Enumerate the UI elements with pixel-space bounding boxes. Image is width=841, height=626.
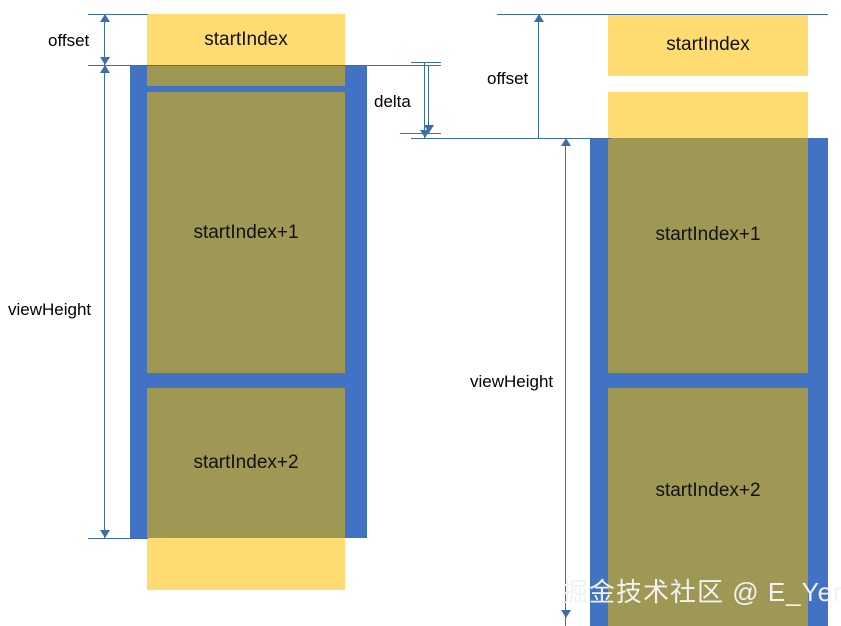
left-offset-tick-bottom — [88, 65, 388, 66]
left-offset-arrowhead-up — [100, 14, 110, 22]
right-label-startindex2: startIndex+2 — [608, 388, 808, 593]
left-divider-0 — [147, 86, 345, 92]
right-offset-tick-top — [497, 14, 828, 15]
right-label-startindex: startIndex — [608, 14, 808, 76]
left-viewheight-arrowhead-up — [100, 65, 110, 73]
left-viewheight-arrow-line — [104, 65, 105, 538]
right-viewheight-arrowhead-up — [561, 138, 571, 146]
left-viewheight-tick-bottom — [88, 538, 148, 539]
right-offset-stub-line — [424, 62, 425, 138]
left-viewheight-arrowhead-down — [100, 530, 110, 538]
watermark: 掘金技术社区 @ E_Yen — [562, 572, 841, 609]
delta-arrow-line — [428, 65, 429, 133]
left-label-startindex1: startIndex+1 — [147, 92, 345, 373]
right-viewheight-label: viewHeight — [470, 373, 553, 390]
right-offset-tick-bottom — [411, 138, 611, 139]
left-item-startindex2-below — [147, 538, 345, 590]
left-offset-arrowhead-down — [100, 57, 110, 65]
right-offset-label: offset — [487, 70, 528, 87]
left-label-startindex2: startIndex+2 — [147, 388, 345, 538]
right-offset-arrowhead-up — [534, 14, 544, 22]
right-offset-stub-arrowhead — [420, 130, 430, 138]
left-offset-label: offset — [48, 32, 89, 49]
delta-tick-top — [367, 65, 441, 66]
left-divider-1 — [147, 373, 345, 388]
right-label-startindex1: startIndex+1 — [608, 138, 808, 331]
left-item-startindex-inside — [147, 65, 345, 86]
right-viewheight-arrow-line — [565, 138, 566, 626]
right-divider-1 — [608, 373, 808, 388]
right-viewheight-arrowhead-down — [561, 610, 571, 618]
left-offset-tick-top — [88, 14, 148, 15]
delta-label: delta — [374, 93, 411, 110]
right-offset-arrow-line — [538, 14, 539, 138]
left-label-startindex: startIndex — [147, 14, 345, 65]
right-item-startindex-partial — [608, 92, 808, 138]
left-viewheight-label: viewHeight — [8, 301, 91, 318]
diagram-canvas: startIndex startIndex+1 startIndex+2 off… — [0, 0, 841, 626]
right-offset-stub-tick — [411, 62, 441, 63]
